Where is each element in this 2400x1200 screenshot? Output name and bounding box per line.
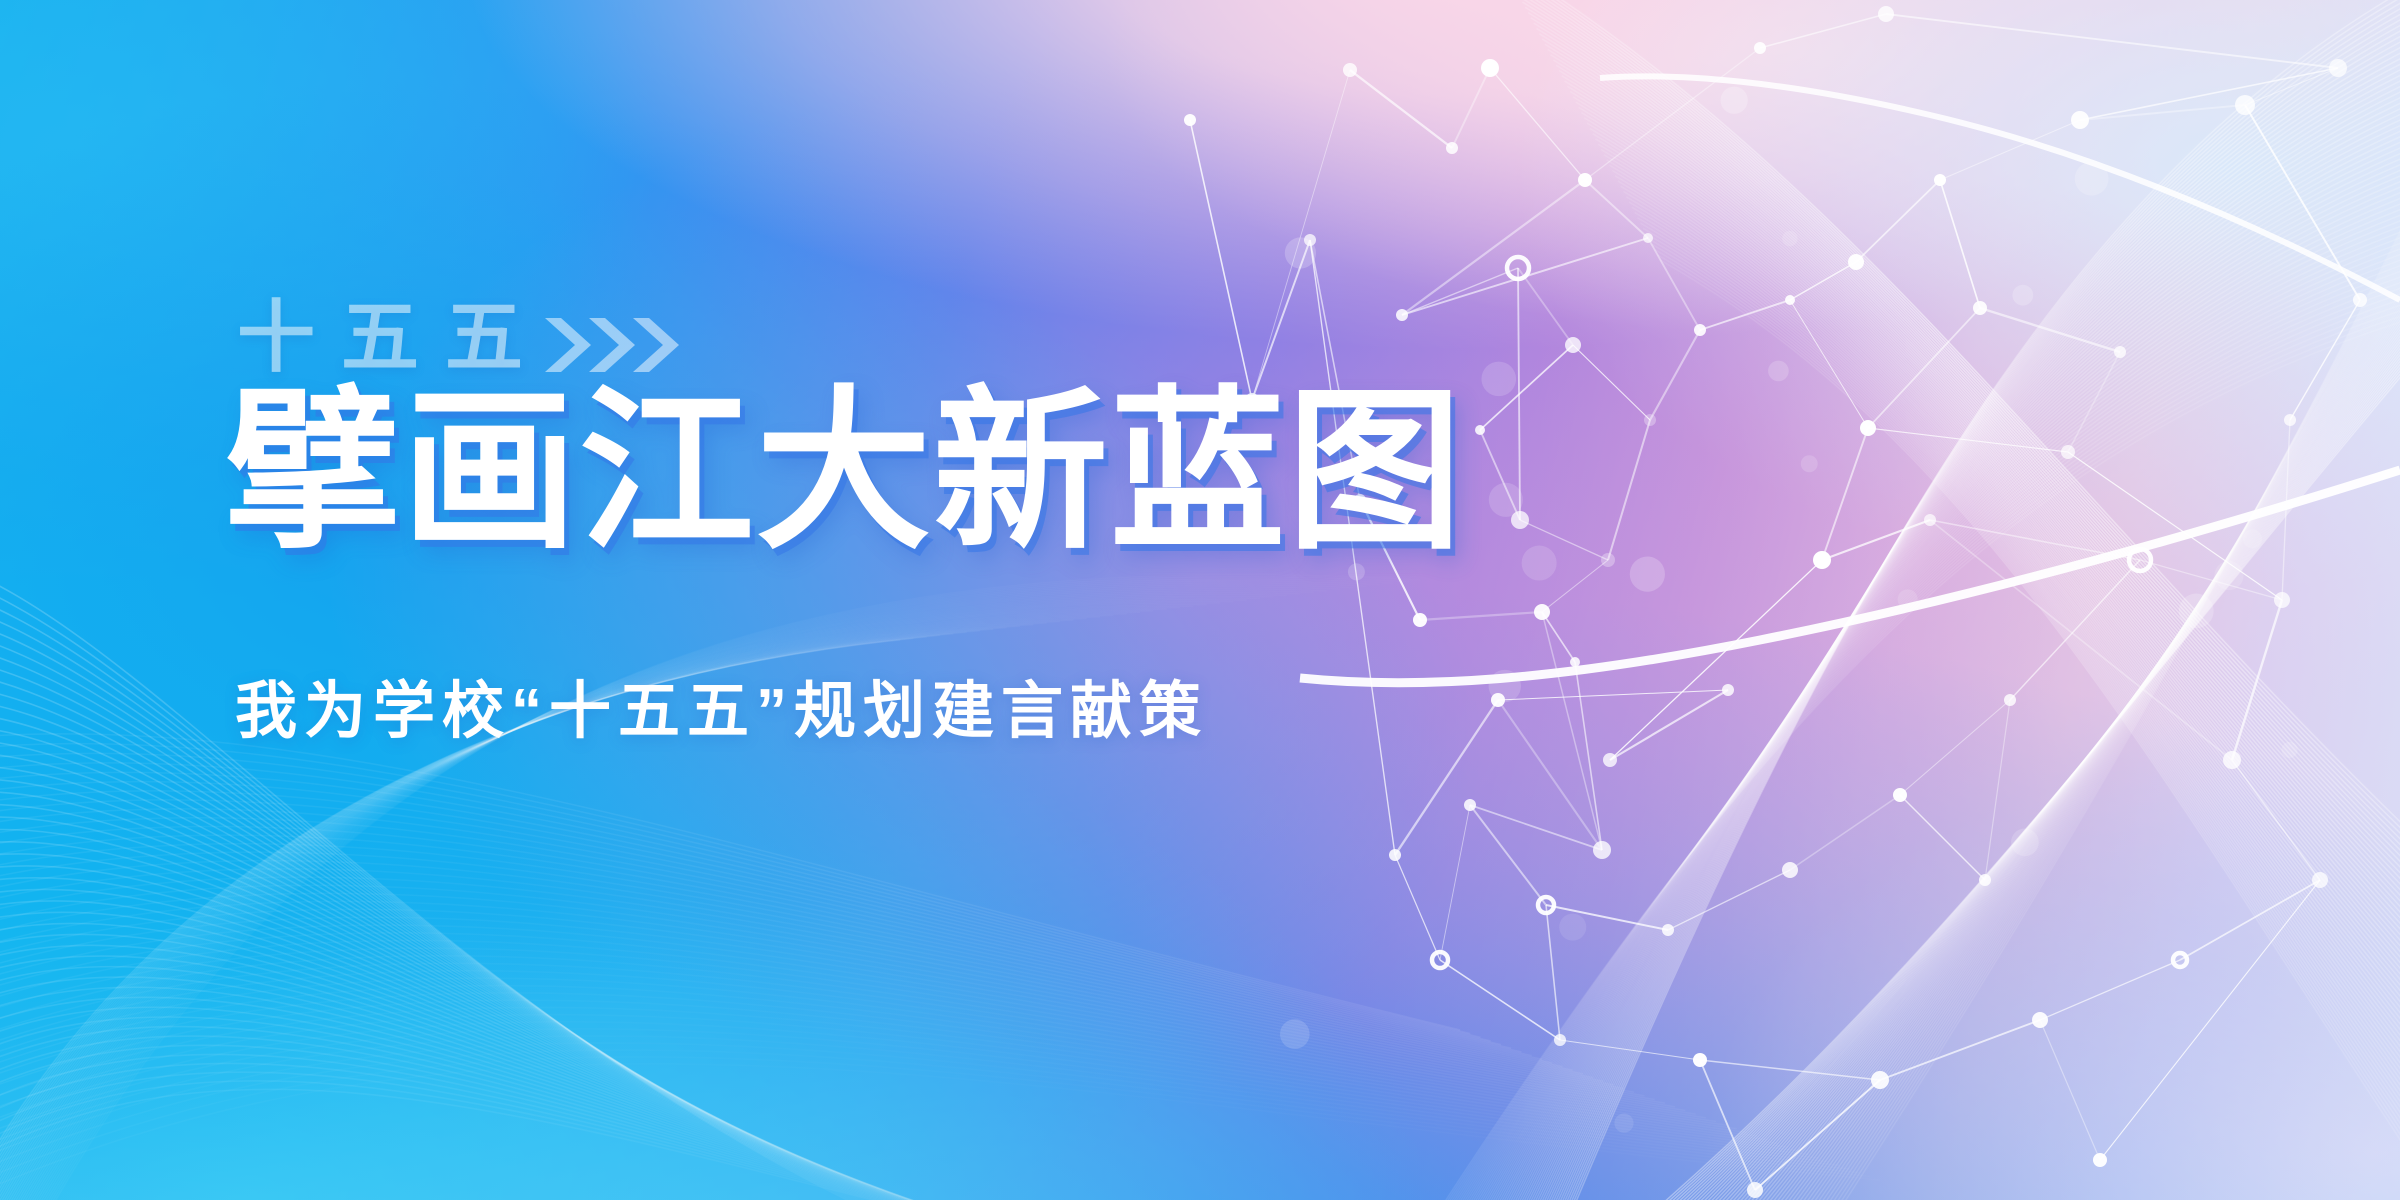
eyebrow-row: 十五五: [237, 290, 1625, 386]
banner-headline: 擘画江大新蓝图: [225, 382, 1625, 564]
eyebrow-label: 十五五: [237, 299, 549, 377]
banner-text-block: 十五五 擘画江大新蓝图 我为学校“十五五”规划建言献策: [225, 290, 1625, 743]
triple-chevron-right-icon: [543, 306, 693, 384]
promo-banner: 十五五 擘画江大新蓝图 我为学校“十五五”规划建言献策: [0, 0, 2400, 1200]
banner-subheadline: 我为学校“十五五”规划建言献策: [235, 681, 1625, 743]
